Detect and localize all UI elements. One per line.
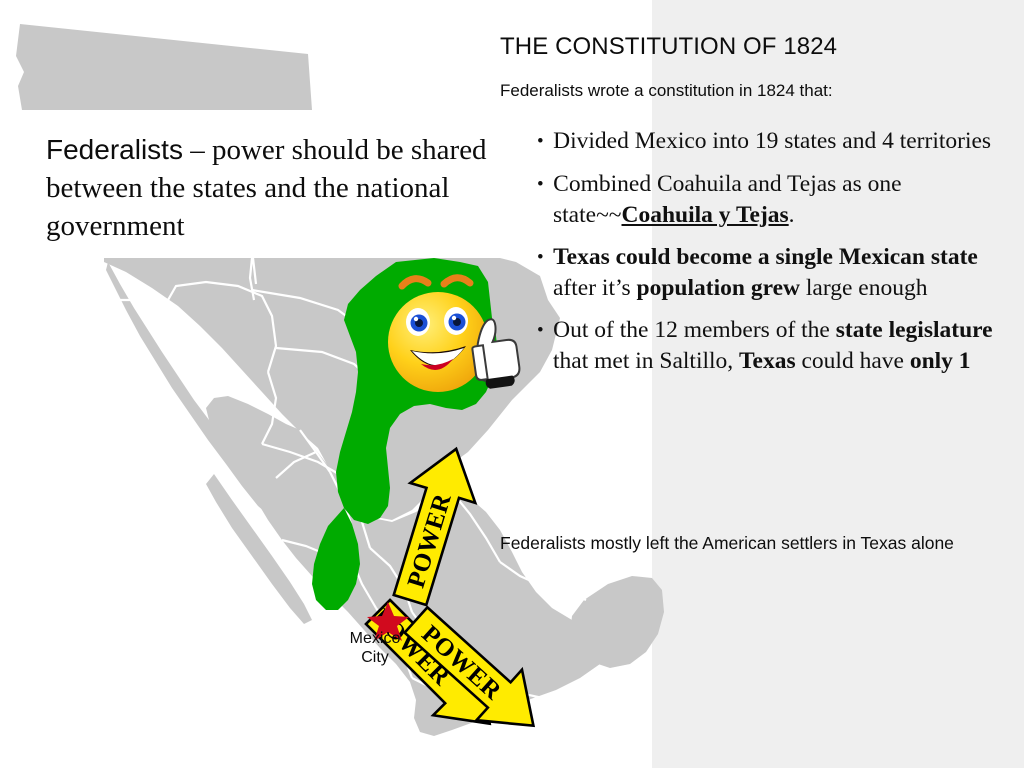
bullet-state-legislature-seg-4: could have [796, 348, 910, 374]
federalists-definition: Federalists – power should be shared bet… [46, 131, 496, 245]
page-footer-note: Federalists mostly left the American set… [500, 532, 980, 555]
north-landmass-fragment [16, 24, 312, 110]
bullet-single-mexican-state-seg-2: population grew [637, 275, 800, 301]
bullet-single-mexican-state-seg-0: Texas could become a single Mexican stat… [553, 244, 978, 270]
constitution-bullet-list: • Divided Mexico into 19 states and 4 te… [537, 126, 1015, 388]
bullet-state-legislature: • Out of the 12 members of the state leg… [537, 315, 1015, 376]
bullet-marker-icon: • [537, 131, 553, 152]
bullet-single-mexican-state-seg-3: large enough [800, 275, 927, 301]
bullet-marker-icon: • [537, 174, 553, 195]
yucatan-peninsula [570, 576, 664, 668]
mexico-city-label-line1: Mexico [350, 630, 401, 647]
bullet-marker-icon: • [537, 247, 553, 268]
slide-canvas: POWER POWER POWER Mexico City Federalist… [0, 0, 1024, 768]
bullet-states-territories: • Divided Mexico into 19 states and 4 te… [537, 126, 1015, 157]
bullet-states-territories-seg-0: Divided Mexico into 19 states and 4 terr… [553, 128, 991, 154]
bullet-coahuila-y-tejas-seg-2: . [789, 202, 795, 228]
bullet-state-legislature-seg-1: state legislature [836, 317, 993, 343]
page-title: THE CONSTITUTION OF 1824 [500, 32, 837, 62]
bullet-single-mexican-state: • Texas could become a single Mexican st… [537, 242, 1015, 303]
bullet-coahuila-y-tejas: • Combined Coahuila and Tejas as one sta… [537, 169, 1015, 230]
bullet-state-legislature-seg-2: that met in Saltillo, [553, 348, 739, 374]
bullet-state-legislature-seg-0: Out of the 12 members of the [553, 317, 836, 343]
bullet-state-legislature-seg-5: only 1 [910, 348, 971, 374]
bullet-coahuila-y-tejas-seg-1: Coahuila y Tejas [622, 202, 789, 228]
bullet-single-mexican-state-seg-1: after it’s [553, 275, 637, 301]
mexico-city-label: Mexico City [312, 629, 438, 667]
bullet-state-legislature-seg-3: Texas [739, 348, 796, 374]
mexico-city-label-line2: City [361, 649, 389, 666]
bullet-marker-icon: • [537, 320, 553, 341]
page-subtitle: Federalists wrote a constitution in 1824… [500, 80, 833, 102]
federalists-term: Federalists [46, 134, 183, 165]
